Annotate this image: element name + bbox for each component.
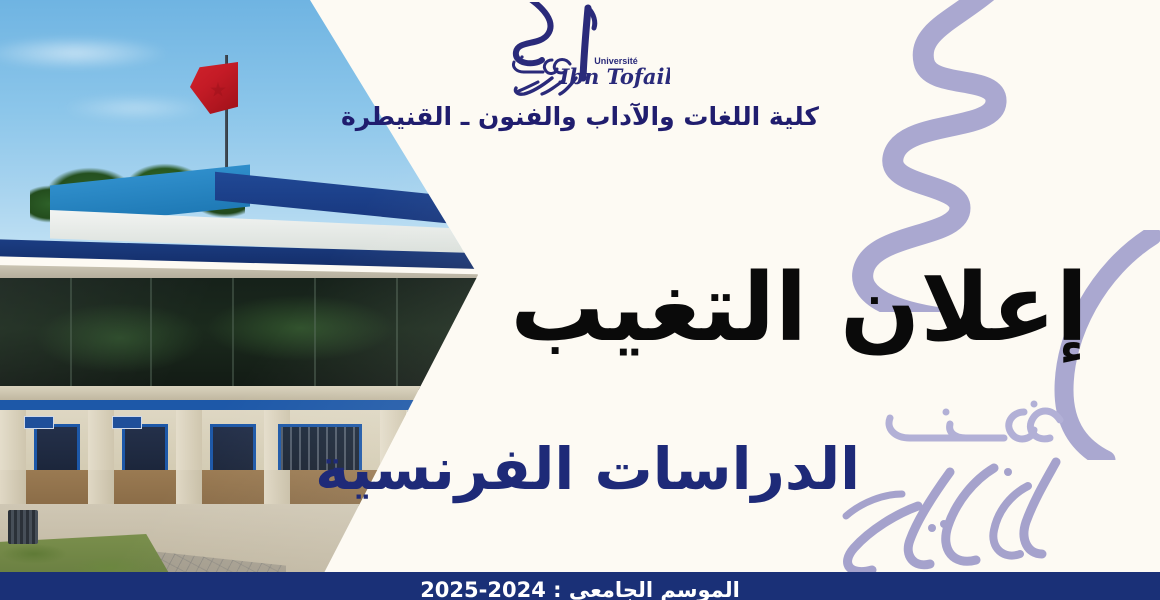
university-logo: Université Ibn Tofail: [0, 2, 1160, 96]
window-mullion: [70, 278, 72, 390]
base-pier: [88, 470, 114, 506]
faculty-name: كلية اللغات والآداب والفنون ـ القنيطرة: [0, 102, 1160, 131]
door-plaque: [112, 416, 142, 429]
poster-canvas: Université Ibn Tofail كلية اللغات والآدا…: [0, 0, 1160, 600]
window-mullion: [150, 278, 152, 390]
window-mullion: [232, 278, 234, 390]
university-logo-mark: Université Ibn Tofail: [490, 2, 670, 96]
door-plaque: [24, 416, 54, 429]
logo-latin-script: Ibn Tofail: [559, 64, 670, 89]
page-title: إعلان التغيب: [510, 258, 1088, 360]
footer-bar: الموسم الجامعي : 2024-2025: [0, 572, 1160, 600]
window-mullion: [314, 278, 316, 390]
window-mullion: [396, 278, 398, 390]
base-pier: [176, 470, 202, 506]
base-pier: [264, 470, 290, 506]
academic-year-label: الموسم الجامعي : 2024-2025: [0, 578, 1160, 600]
glass-facade: [0, 278, 500, 390]
page-subtitle: الدراسات الفرنسية: [315, 438, 860, 502]
trash-bin: [8, 510, 38, 544]
base-pier: [0, 470, 26, 506]
